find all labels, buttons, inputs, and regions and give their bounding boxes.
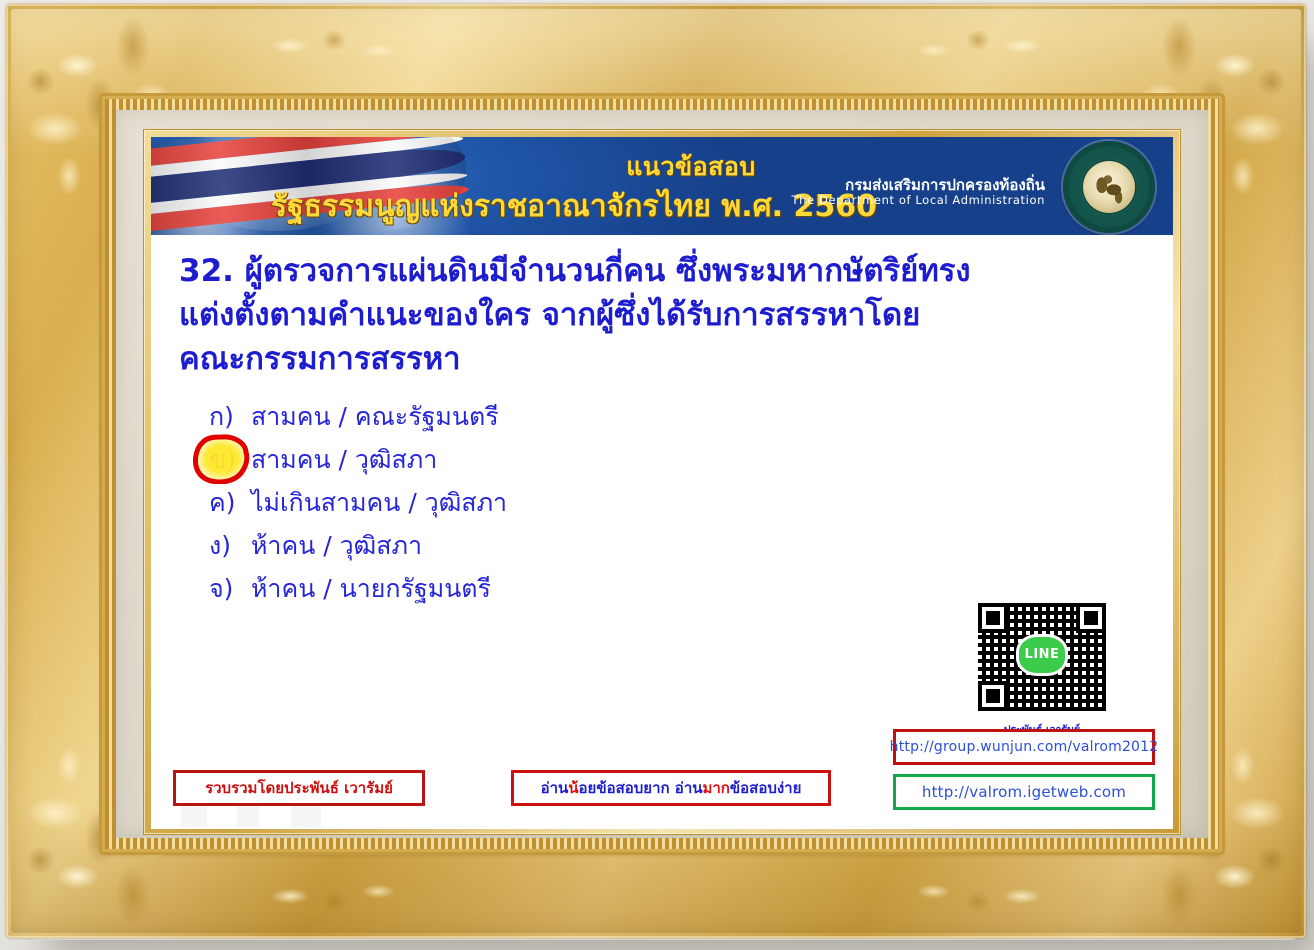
department-name-block: กรมส่งเสริมการปกครองท้องถิ่น The Departm… [792,177,1045,208]
choice-text: ไม่เกินสามคน / วุฒิสภา [251,488,507,517]
question-area: 32. ผู้ตรวจการแผ่นดินมีจำนวนกี่คน ซึ่งพร… [151,235,1173,610]
department-seal-icon [1063,141,1155,233]
question-line-2: แต่งตั้งตามคำแนะของใคร จากผู้ซึ่งได้รับก… [179,293,1149,337]
choice-label: ค) [209,490,243,515]
credit-box: รวบรวมโดยประพันธ์ เวารัมย์ [173,770,425,806]
question-line-1: 32. ผู้ตรวจการแผ่นดินมีจำนวนกี่คน ซึ่งพร… [179,249,1149,293]
choice-label: ก) [209,404,243,429]
frame-sprig-top-left [256,26,426,70]
choice-label: จ) [209,576,243,601]
qr-finder-icon [1076,603,1106,633]
answer-choice-kho[interactable]: ข) สามคน / วุฒิสภา [209,438,1173,481]
question-line-3: คณะกรรมการสรรหา [179,337,1149,381]
frame-sprig-bottom-left [256,872,426,916]
qr-finder-icon [978,603,1008,633]
line-qr-code[interactable]: LINE [974,599,1110,715]
motto-box: อ่านน้อยข้อสอบยาก อ่านมากข้อสอบง่าย [511,770,831,806]
answer-choice-ka[interactable]: ก) สามคน / คณะรัฐมนตรี [209,395,1173,438]
line-logo-icon: LINE [1019,637,1065,673]
choice-text: สามคน / วุฒิสภา [251,445,437,474]
website-url-box[interactable]: http://valrom.igetweb.com [893,774,1155,810]
department-name-english: The Department of Local Administration [792,194,1045,208]
motto-text: อ่านน้อยข้อสอบยาก อ่านมากข้อสอบง่าย [541,776,802,800]
choice-text: ห้าคน / วุฒิสภา [251,531,422,560]
question-text: 32. ผู้ตรวจการแผ่นดินมีจำนวนกี่คน ซึ่งพร… [179,249,1149,381]
slide-artwork: แนวข้อสอบ รัฐธรรมนูญแห่งราชอาณาจักรไทย พ… [151,137,1173,829]
choice-text: ห้าคน / นายกรัฐมนตรี [251,574,491,603]
group-url-text: http://group.wunjun.com/valrom2012 [890,739,1159,755]
answer-choice-ngo[interactable]: ง) ห้าคน / วุฒิสภา [209,524,1173,567]
group-url-box[interactable]: http://group.wunjun.com/valrom2012 [893,729,1155,765]
department-name-thai: กรมส่งเสริมการปกครองท้องถิ่น [792,177,1045,194]
header-banner: แนวข้อสอบ รัฐธรรมนูญแห่งราชอาณาจักรไทย พ… [151,137,1173,235]
choice-label: ข) [209,447,243,472]
website-url-text: http://valrom.igetweb.com [922,783,1126,801]
answer-choice-list: ก) สามคน / คณะรัฐมนตรี ข) สามคน / วุฒิสภ… [209,395,1173,610]
gold-picture-frame: แนวข้อสอบ รัฐธรรมนูญแห่งราชอาณาจักรไทย พ… [6,4,1306,938]
qr-finder-icon [978,681,1008,711]
answer-choice-kho-khwai[interactable]: ค) ไม่เกินสามคน / วุฒิสภา [209,481,1173,524]
frame-sprig-top-right [886,26,1056,70]
choice-label: ง) [209,533,243,558]
credit-text: รวบรวมโดยประพันธ์ เวารัมย์ [205,776,393,800]
frame-sprig-bottom-right [886,872,1056,916]
choice-text: สามคน / คณะรัฐมนตรี [251,402,499,431]
